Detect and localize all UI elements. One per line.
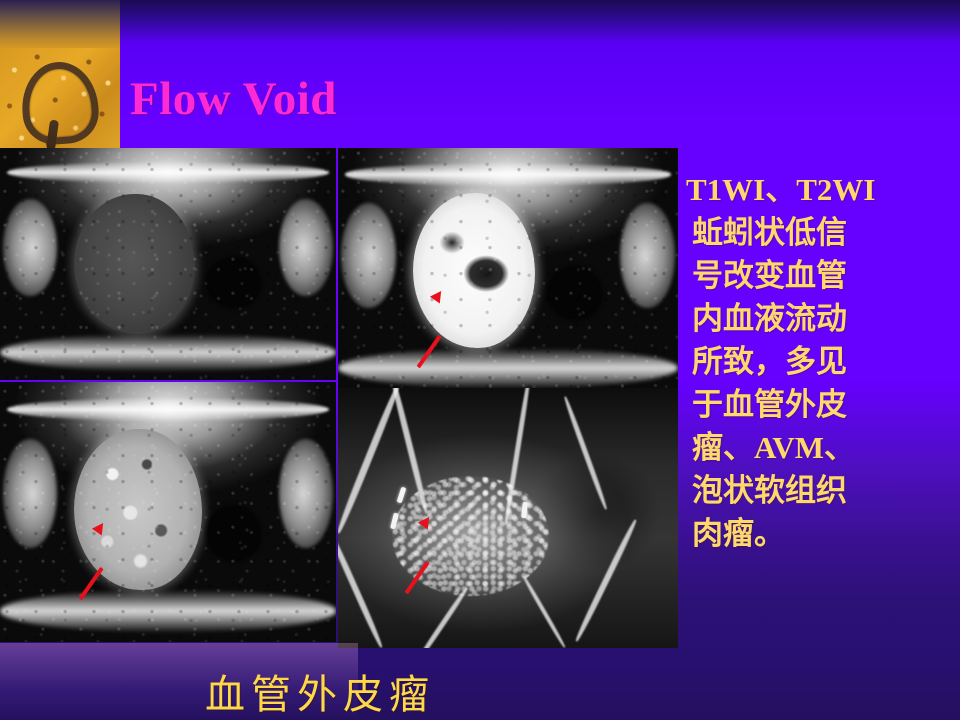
body-line: 内血液流动 [702, 297, 960, 340]
earthworm-photo [0, 0, 120, 148]
image-noise [0, 148, 336, 380]
photo-sky [0, 0, 120, 52]
body-line: 号改变血管 [702, 254, 960, 297]
body-line: 瘤、AVM、 [702, 426, 960, 469]
axial-post-contrast-pelvic-mri [0, 382, 336, 642]
body-line: 蚯蚓状低信 [702, 211, 960, 254]
slide-caption: 血管外皮瘤 [205, 662, 435, 720]
body-line: 泡状软组织 [702, 469, 960, 512]
image-noise [338, 148, 678, 398]
body-line: T1WI、T2WI [696, 168, 960, 211]
body-line: 所致，多见 [702, 340, 960, 383]
body-line: 于血管外皮 [702, 383, 960, 426]
body-text-block: T1WI、T2WI 蚯蚓状低信 号改变血管 内血液流动 所致，多见 于血管外皮 … [686, 168, 960, 555]
axial-t1-weighted-pelvic-mri [0, 148, 336, 380]
page-title: Flow Void [130, 72, 337, 126]
presentation-slide: Flow Void [0, 0, 960, 720]
axial-t2-weighted-pelvic-mri [338, 148, 678, 398]
body-line: 肉瘤。 [702, 512, 960, 555]
image-noise [0, 382, 336, 642]
pelvic-dsa-angiogram [338, 388, 678, 648]
